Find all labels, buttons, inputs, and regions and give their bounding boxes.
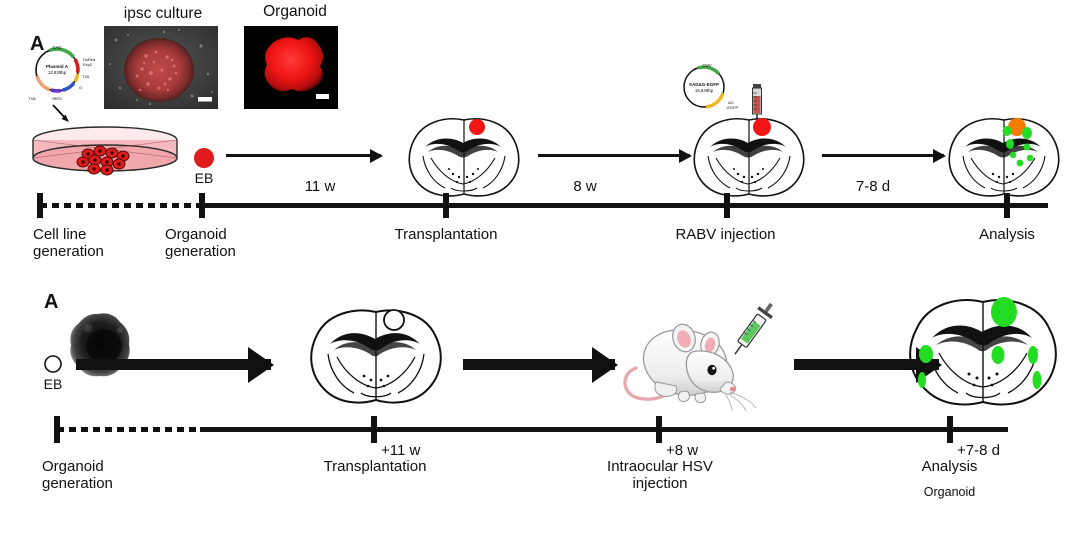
tick-transplantation-top [443, 193, 449, 218]
plasmid-seg-tva: TVA [28, 96, 36, 101]
hsv-injection-line2: injection [632, 475, 687, 492]
ipsc-culture-image [104, 26, 218, 109]
plasmid-sad-dg-egfp-map: SADΔG-EGFP 15,849bp CMV ΔG -EGFP [668, 58, 750, 120]
timeline-label-transplantation-top: Transplantation [376, 226, 516, 243]
scalebar-organoid [316, 94, 329, 99]
eb-label-bottom: EB [38, 376, 68, 392]
timeline-bottom-solid-line [200, 427, 1008, 432]
ipsc-culture-caption: ipsc culture [103, 5, 223, 22]
timeline-top-solid-line [200, 203, 1048, 208]
scalebar-ipsc [198, 97, 212, 102]
sad-plasmid-size: 15,849bp [695, 88, 714, 93]
graft-marker-outline [384, 310, 404, 330]
tick-organoid-generation-top [199, 193, 205, 218]
plasmid-a-size: 13,839bp [48, 70, 67, 75]
organoid-brightfield-image [64, 308, 142, 386]
brain-transplantation-top [401, 114, 527, 200]
eb-dot-top [192, 146, 216, 170]
tick-transplantation-bottom [371, 416, 377, 443]
sad-seg-egfp: -EGFP [726, 105, 739, 110]
duration-plus-7-8d: +7-8 d [957, 442, 1027, 459]
organoid-generation-line1-bottom: Organoid [42, 458, 104, 475]
plasmid-a-map: Plasmid A 13,839bp CAG DsRed Exp2 T2A G … [24, 40, 102, 104]
brain-rabv-injection [686, 114, 812, 200]
panel-letter-bottom: A [44, 292, 58, 312]
arrow-transplant-to-rabv [538, 154, 690, 157]
graft-marker-red [469, 119, 485, 135]
timeline-bottom-dashed-segment [57, 427, 207, 432]
petri-dish-illustration [28, 124, 183, 186]
duration-11w-top: 11 w [285, 178, 355, 195]
timeline-top-dashed-segment [40, 203, 200, 208]
timeline-label-analysis-bottom: Analysis [902, 458, 997, 475]
plasmid-a-name: Plasmid A [46, 64, 69, 69]
timeline-label-transplantation-bottom: Transplantation [305, 458, 445, 475]
graft-marker-red-rabv [753, 118, 771, 136]
sad-seg-cmv: CMV [702, 63, 712, 68]
plasmid-seg-t2a: T2A [82, 74, 90, 79]
plasmid-seg-dsred-exp2: Exp2 [83, 62, 93, 67]
organoid-generation-line2-top: generation [165, 243, 236, 260]
tick-rabv-injection [724, 193, 730, 218]
analysis-sub-note-organoid: Organoid [902, 485, 997, 499]
tick-organoid-generation-bottom [54, 416, 60, 443]
timeline-label-organoid-generation-bottom: Organoid generation [20, 458, 152, 493]
mouse-illustration [622, 308, 772, 412]
plasmid-seg-cag: CAG [52, 45, 61, 50]
plasmid-seg-g: G [79, 85, 82, 90]
timeline-label-rabv-injection: RABV injection [663, 226, 788, 243]
tick-cell-line-generation [37, 193, 43, 218]
organoid-generation-line1-top: Organoid [165, 226, 227, 243]
brain-analysis-top [941, 114, 1067, 200]
panel-rabv-tracing: A ipsc culture [0, 0, 1080, 268]
duration-8w-top: 8 w [555, 178, 615, 195]
brain-transplantation-bottom [302, 304, 450, 408]
cell-line-generation-line1: Cell line [33, 226, 86, 243]
cell-line-generation-line2: generation [33, 243, 104, 260]
timeline-label-cell-line-generation: Cell line generation [0, 226, 113, 261]
tick-hsv-injection [656, 416, 662, 443]
organoid-fluorescence-image [244, 26, 338, 109]
sad-plasmid-name: SADΔG-EGFP [689, 82, 719, 87]
timeline-label-organoid-generation-top: Organoid generation [163, 226, 247, 261]
arrow-transplant-to-hsv [463, 359, 615, 370]
timeline-label-analysis-top: Analysis [967, 226, 1047, 243]
tick-analysis-bottom [947, 416, 953, 443]
brain-analysis-bottom [900, 292, 1066, 410]
organoid-generation-line2-bottom: generation [42, 475, 113, 492]
arrow-rabv-to-analysis [822, 154, 944, 157]
eb-circle-bottom [42, 353, 64, 375]
duration-7-8d-top: 7-8 d [838, 178, 908, 195]
plasmid-seg-ires: IRES [52, 96, 62, 101]
hsv-injection-line1: Intraocular HSV [607, 458, 713, 475]
arrow-eb-to-transplant [226, 154, 381, 157]
duration-plus-11w: +11 w [381, 442, 441, 459]
eb-label-top: EB [188, 170, 220, 186]
arrow-eb-to-transplant-bottom [76, 359, 271, 370]
panel-hsv-tracing: A EB [0, 268, 1080, 537]
syringe-hsv-icon [728, 299, 778, 359]
timeline-label-hsv-injection: Intraocular HSV injection [585, 458, 735, 493]
organoid-fluorescence-caption: Organoid [240, 3, 350, 20]
tick-analysis-top [1004, 193, 1010, 218]
duration-plus-8w: +8 w [666, 442, 726, 459]
